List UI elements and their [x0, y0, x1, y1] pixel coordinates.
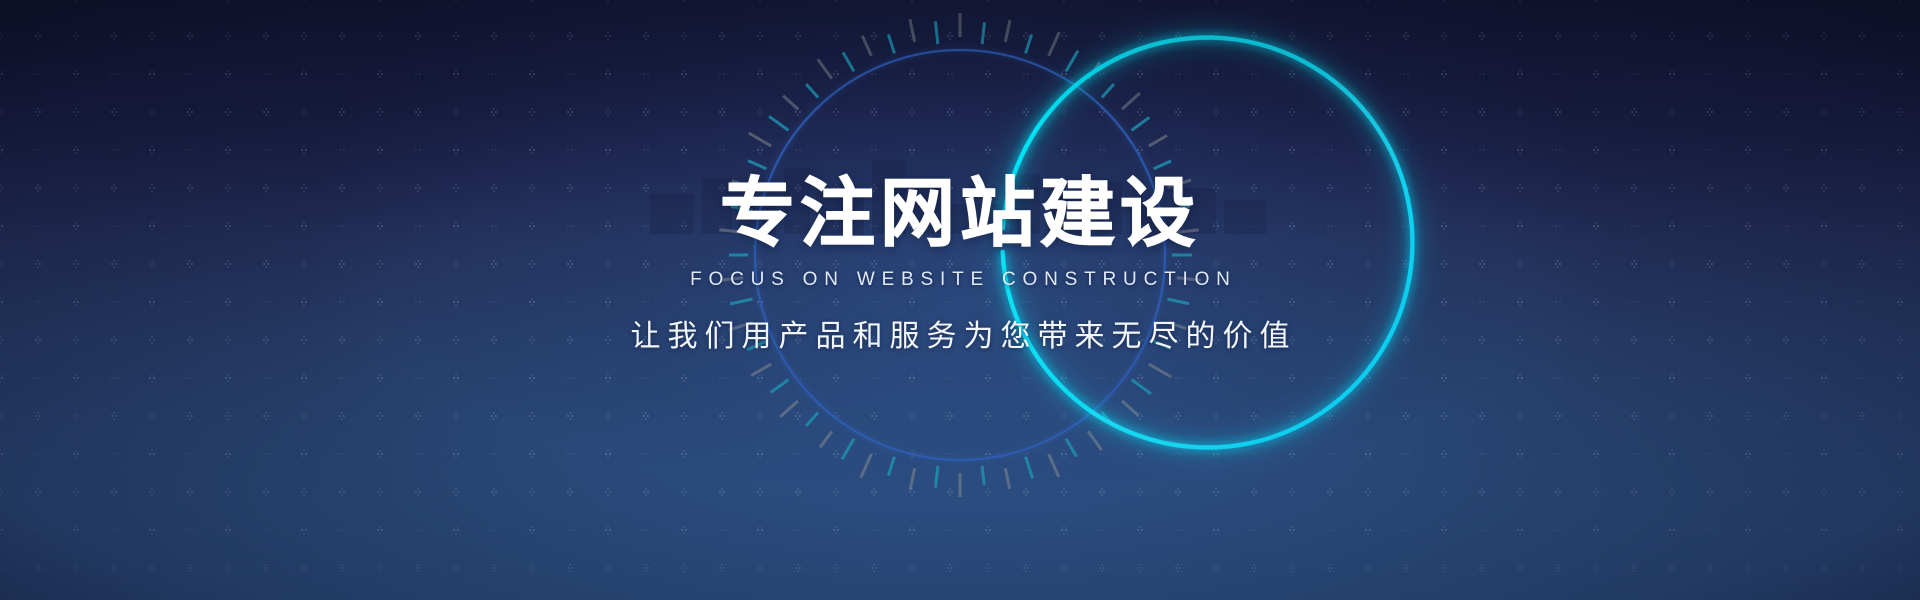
dot-lattice-pattern-tertiary — [0, 0, 1920, 600]
dot-lattice-pattern-secondary — [0, 0, 1920, 600]
hero-tagline-chinese: 让我们用产品和服务为您带来无尽的价值 — [0, 311, 1920, 355]
tech-circle-ring — [700, 0, 1220, 515]
background-top-shade — [0, 0, 1920, 240]
cyan-progress-arc — [973, 8, 1442, 477]
dot-lattice-pattern — [0, 0, 1920, 600]
hero-subtitle-english: FOCUS ON WEBSITE CONSTRUCTION — [0, 269, 1920, 291]
background-center-glow — [310, 0, 1610, 600]
hero-banner: 专注网站建设 FOCUS ON WEBSITE CONSTRUCTION 让我们… — [0, 0, 1920, 600]
faint-city-skyline — [610, 148, 1310, 234]
dim-blue-ring-arc — [755, 50, 1165, 460]
radial-tick-marks — [719, 13, 1200, 497]
page-title: 专注网站建设 — [0, 176, 1920, 251]
background-vignette — [0, 0, 1920, 600]
hero-copy-block: 专注网站建设 FOCUS ON WEBSITE CONSTRUCTION 让我们… — [0, 176, 1920, 355]
